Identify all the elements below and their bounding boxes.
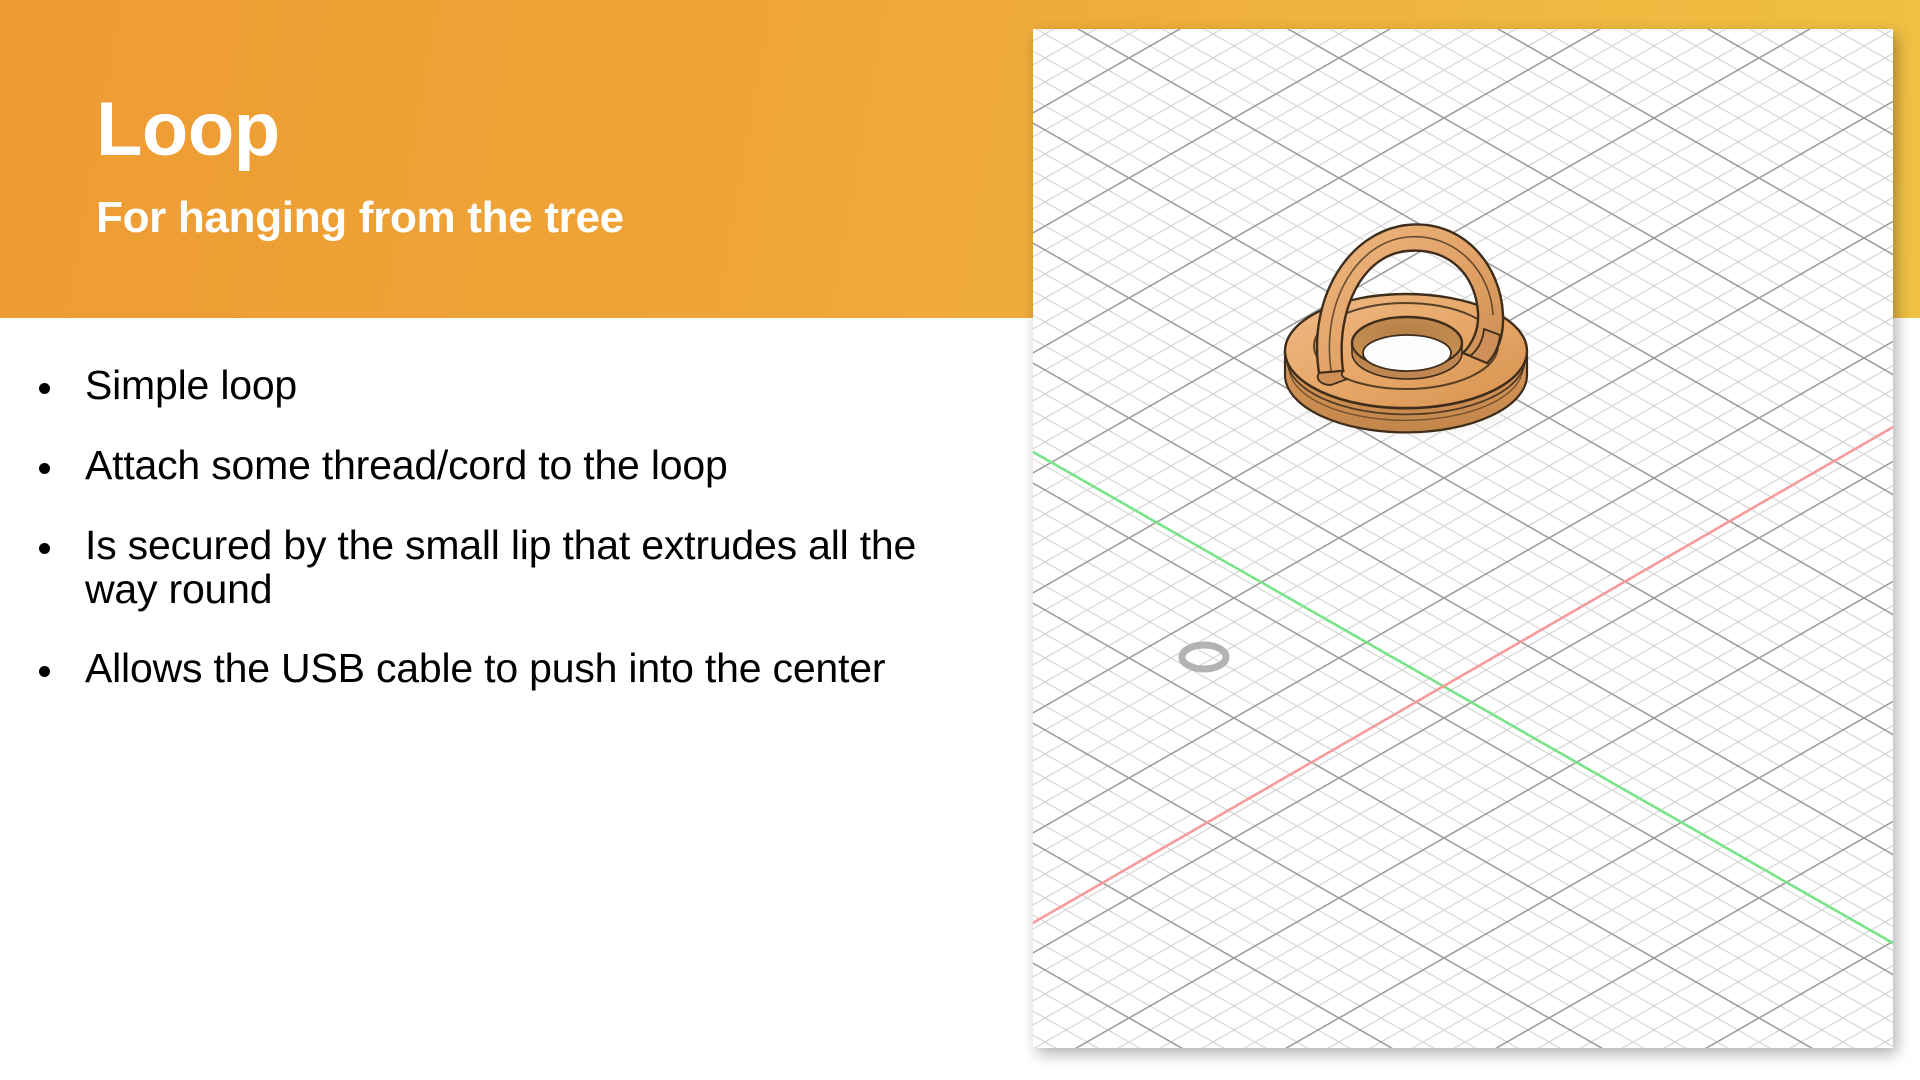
list-item-label: Simple loop [85,362,297,408]
loop-grommet-3d-model [1255,203,1545,443]
list-item: Allows the USB cable to push into the ce… [26,647,986,691]
list-item: Simple loop [26,364,986,408]
page-title: Loop [96,92,280,168]
bullet-dot-icon [39,463,50,474]
hole-bottom-opening [1363,335,1451,371]
slide: Loop For hanging from the tree Simple lo… [0,0,1920,1080]
cad-render-image [1033,29,1893,1048]
list-item-label: Is secured by the small lip that extrude… [85,522,916,612]
bullet-dot-icon [39,543,50,554]
list-item: Attach some thread/cord to the loop [26,444,986,488]
page-subtitle: For hanging from the tree [96,196,624,240]
list-item-label: Attach some thread/cord to the loop [85,442,728,488]
bullet-list: Simple loop Attach some thread/cord to t… [26,364,986,727]
list-item: Is secured by the small lip that extrude… [26,524,986,612]
bullet-dot-icon [39,383,50,394]
bullet-dot-icon [39,666,50,677]
cad-grid [1033,29,1893,1048]
list-item-label: Allows the USB cable to push into the ce… [85,645,885,691]
